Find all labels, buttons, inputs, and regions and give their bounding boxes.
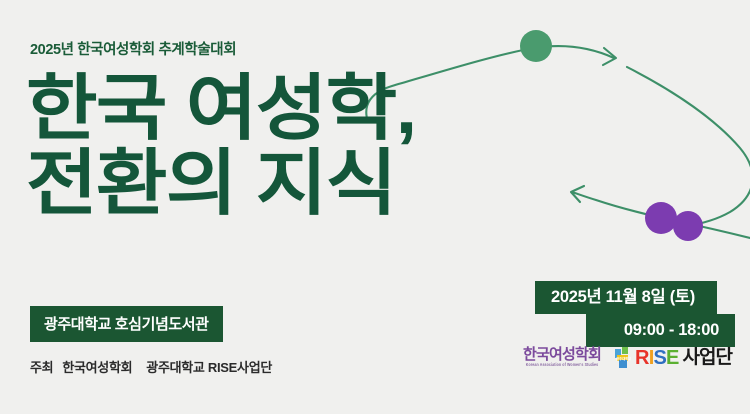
title-line-1: 한국 여성학, <box>26 74 416 145</box>
kaws-logo-korean: 한국여성학회 <box>523 347 601 362</box>
event-time: 09:00 - 18:00 <box>586 314 735 348</box>
green-swoop-right <box>627 67 750 226</box>
purple-dot-left <box>645 202 677 234</box>
top-arrowhead-icon <box>603 48 616 65</box>
page-title: 한국 여성학, 전환의 지식 <box>26 74 387 219</box>
purple-dot-right <box>673 211 703 241</box>
rise-letter-s: S <box>653 347 666 369</box>
host-org-2: 광주대학교 RISE사업단 <box>146 360 272 375</box>
green-arrow-curve-bottom <box>572 192 750 238</box>
host-label: 주최 <box>30 360 53 375</box>
title-line-2: 전환의 지식 <box>26 149 416 220</box>
rise-letter-e: E <box>666 347 679 369</box>
green-dot <box>520 30 552 62</box>
kaws-logo: 한국여성학회 Korean Association of Women's Stu… <box>523 347 601 368</box>
schedule-block: 2025년 11월 8일 (토) 09:00 - 18:00 <box>535 281 735 347</box>
venue-chip: 광주대학교 호심기념도서관 <box>30 306 223 342</box>
conference-poster: 2025년 한국여성학회 추계학술대회 한국 여성학, 전환의 지식 광주대학교… <box>0 0 750 414</box>
rise-mark-label: 광주대학교 <box>616 356 631 361</box>
event-date: 2025년 11월 8일 (토) <box>535 281 717 314</box>
rise-suffix-label: 사업단 <box>683 348 732 367</box>
rise-wordmark: RISE <box>635 348 679 368</box>
bottom-arrowhead-icon <box>571 186 584 202</box>
rise-mark-icon: 광주대학교 <box>615 347 632 368</box>
kaws-logo-english: Korean Association of Women's Studies <box>526 364 598 368</box>
event-kicker: 2025년 한국여성학회 추계학술대회 <box>30 38 236 59</box>
rise-letter-r: R <box>635 347 649 369</box>
host-line: 주최한국여성학회광주대학교 RISE사업단 <box>30 357 272 376</box>
host-org-1: 한국여성학회 <box>62 360 132 375</box>
rise-logo: 광주대학교 RISE 사업단 <box>615 347 732 368</box>
logo-strip: 한국여성학회 Korean Association of Women's Stu… <box>523 347 732 368</box>
